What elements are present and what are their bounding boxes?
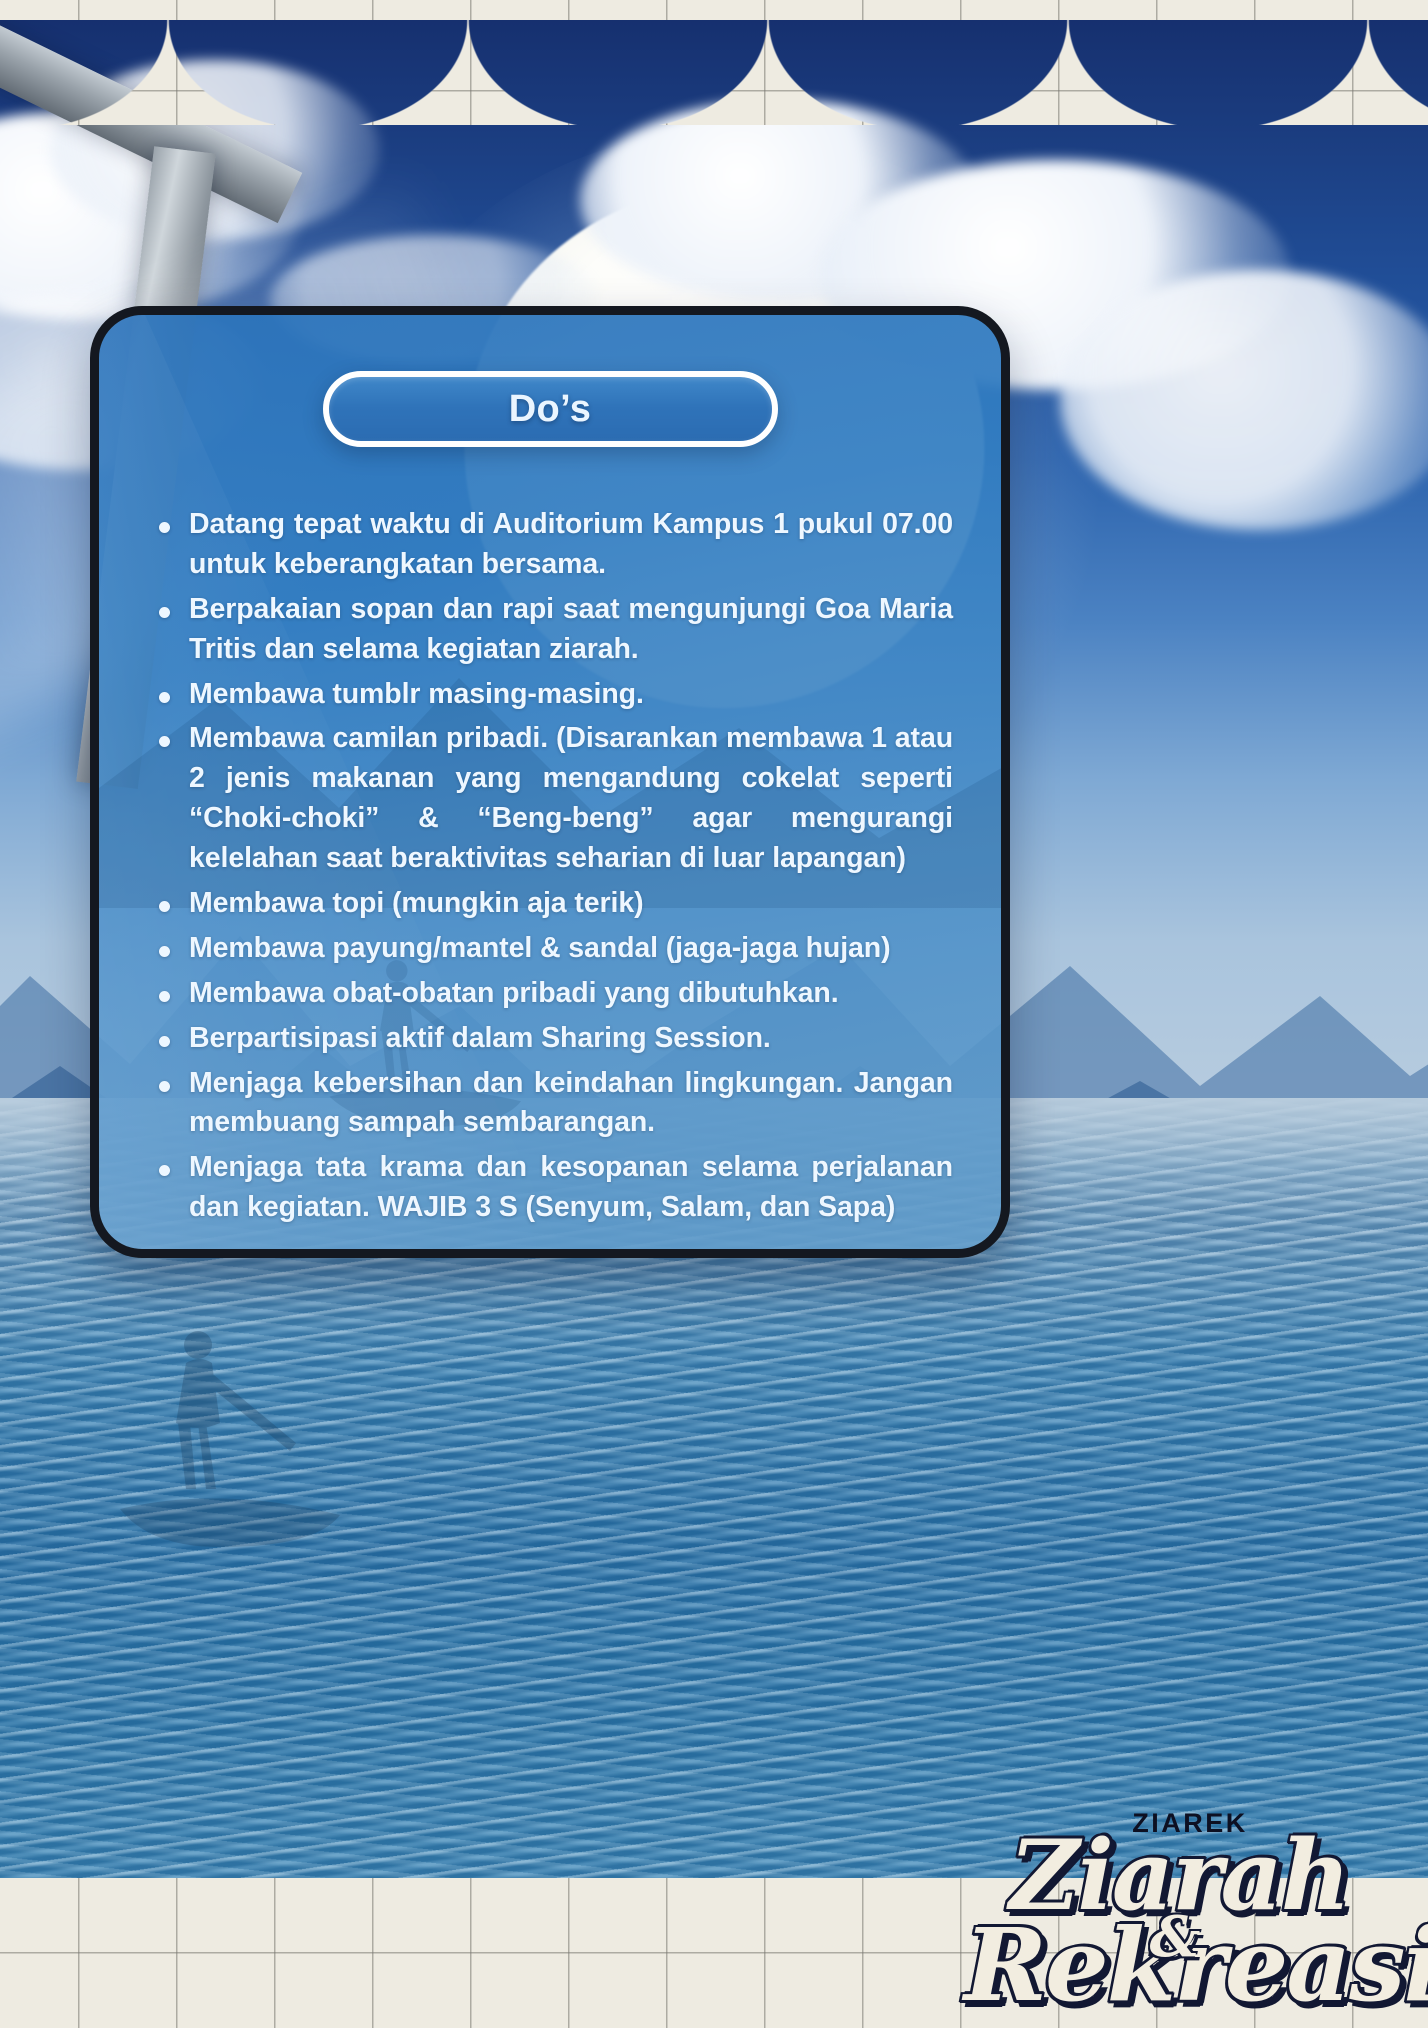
- list-item: Menjaga tata krama dan kesopanan selama …: [189, 1148, 953, 1228]
- fisherman-silhouette: [90, 1323, 390, 1628]
- list-item: Membawa camilan pribadi. (Disarankan mem…: [189, 719, 953, 879]
- list-item: Berpartisipasi aktif dalam Sharing Sessi…: [189, 1019, 953, 1059]
- logo-ampersand: &: [1150, 1904, 1201, 1970]
- dos-title-pill: Do’s: [323, 371, 778, 447]
- list-item: Berpakaian sopan dan rapi saat mengunjun…: [189, 590, 953, 670]
- list-item: Menjaga kebersihan dan keindahan lingkun…: [189, 1064, 953, 1144]
- list-item: Membawa topi (mungkin aja terik): [189, 884, 953, 924]
- dos-card: Do’s Datang tepat waktu di Auditorium Ka…: [90, 306, 1010, 1258]
- poster-canvas: Do’s Datang tepat waktu di Auditorium Ka…: [0, 0, 1428, 2028]
- ziarek-logo: ZIAREK Ziarah & Rekreasi: [964, 1808, 1394, 2008]
- list-item: Membawa payung/mantel & sandal (jaga-jag…: [189, 929, 953, 969]
- dos-list: Datang tepat waktu di Auditorium Kampus …: [147, 505, 953, 1228]
- list-item: Membawa tumblr masing-masing.: [189, 675, 953, 715]
- page-title: Do’s: [509, 388, 592, 431]
- list-item: Membawa obat-obatan pribadi yang dibutuh…: [189, 974, 953, 1014]
- list-item: Datang tepat waktu di Auditorium Kampus …: [189, 505, 953, 585]
